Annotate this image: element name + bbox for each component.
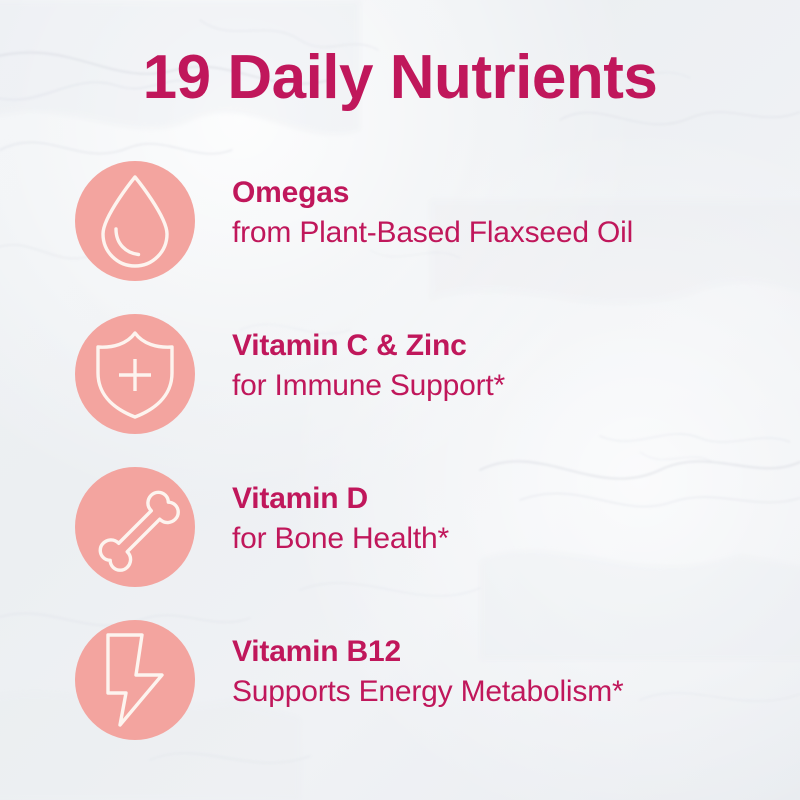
droplet-icon-circle — [75, 161, 195, 281]
benefit-subtitle: from Plant-Based Flaxseed Oil — [232, 213, 787, 253]
benefit-row-omegas: Omegas from Plant-Based Flaxseed Oil — [0, 156, 800, 286]
benefit-title: Vitamin B12 — [232, 632, 787, 672]
page-title: 19 Daily Nutrients — [0, 44, 800, 112]
benefit-row-vitamin-b12: Vitamin B12 Supports Energy Metabolism* — [0, 615, 800, 745]
lightning-bolt-icon — [98, 631, 172, 729]
benefit-text-omegas: Omegas from Plant-Based Flaxseed Oil — [232, 173, 787, 253]
lightning-bolt-icon-circle — [75, 620, 195, 740]
benefit-row-vitamin-d: Vitamin D for Bone Health* — [0, 462, 800, 592]
benefit-row-vitamin-c-zinc: Vitamin C & Zinc for Immune Support* — [0, 309, 800, 439]
nutrient-benefits-panel: 19 Daily Nutrients Omegas from Plant-Bas… — [0, 0, 800, 800]
benefit-title: Omegas — [232, 173, 787, 213]
benefit-subtitle: for Immune Support* — [232, 366, 787, 406]
shield-plus-icon — [89, 327, 181, 421]
benefit-subtitle: Supports Energy Metabolism* — [232, 672, 787, 712]
shield-plus-icon-circle — [75, 314, 195, 434]
benefit-title: Vitamin C & Zinc — [232, 326, 787, 366]
benefit-title: Vitamin D — [232, 479, 787, 519]
bone-icon — [88, 480, 182, 574]
benefit-text-vitamin-d: Vitamin D for Bone Health* — [232, 479, 787, 559]
benefit-text-vitamin-b12: Vitamin B12 Supports Energy Metabolism* — [232, 632, 787, 712]
bone-icon-circle — [75, 467, 195, 587]
benefit-subtitle: for Bone Health* — [232, 519, 787, 559]
benefit-text-vitamin-c-zinc: Vitamin C & Zinc for Immune Support* — [232, 326, 787, 406]
droplet-icon — [93, 173, 177, 269]
